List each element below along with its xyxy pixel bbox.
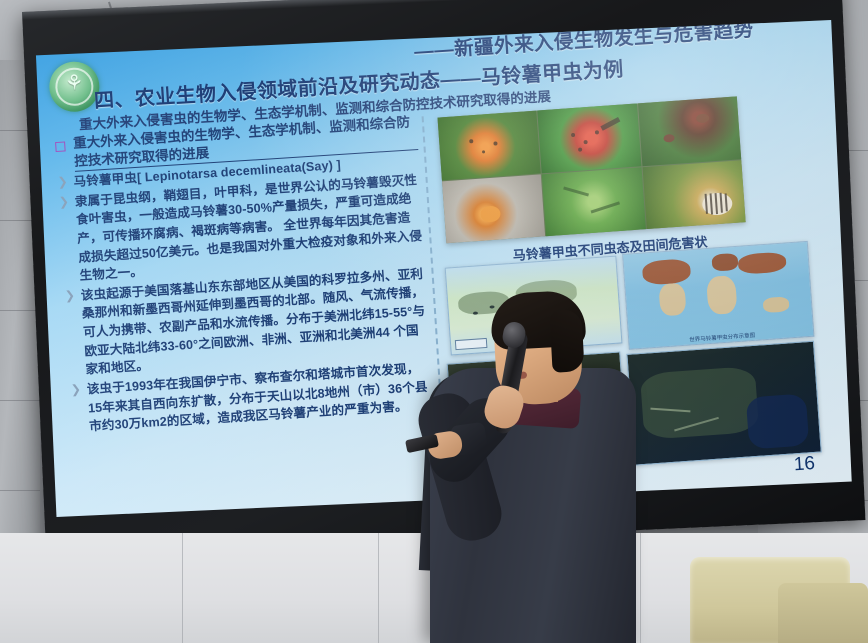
emblem-glyph: ⚘ <box>49 72 100 95</box>
display-screen[interactable]: ⚘ ——新疆外来入侵生物发生与危害趋势 四、农业生物入侵领域前沿及研究动态——马… <box>22 0 866 571</box>
photo-damaged-foliage <box>542 167 645 236</box>
map-russia-distribution <box>445 256 623 356</box>
scene-root: ⚘ ——新疆外来入侵生物发生与危害趋势 四、农业生物入侵领域前沿及研究动态——马… <box>0 0 868 643</box>
chevron-bullet-icon: ❯ <box>70 382 81 398</box>
photo-larvae-orange-on-leaf <box>438 111 541 180</box>
photo-adult-beetles-dark <box>638 96 742 165</box>
chevron-bullet-icon: ❯ <box>64 288 75 304</box>
slide-number: 16 <box>793 453 816 476</box>
photo-larva-red-spotted <box>538 103 641 172</box>
photo-egg-mass-orange <box>442 174 545 243</box>
map-china-satellite <box>626 341 821 466</box>
chair-secondary <box>778 583 868 643</box>
chevron-bullet-icon: ❯ <box>57 174 68 190</box>
photo-grid <box>438 96 746 243</box>
slide-body-column: 重大外来入侵害虫的生物学、生态学机制、监测和综合防控技术研究取得的进展 ❯ 马铃… <box>47 113 436 439</box>
photo-striped-adult-beetle <box>642 160 746 229</box>
square-bullet-icon <box>55 141 66 152</box>
map-xinjiang-spread <box>447 351 629 477</box>
presentation-slide[interactable]: ⚘ ——新疆外来入侵生物发生与危害趋势 四、农业生物入侵领域前沿及研究动态——马… <box>36 20 852 517</box>
chevron-bullet-icon: ❯ <box>58 194 69 210</box>
